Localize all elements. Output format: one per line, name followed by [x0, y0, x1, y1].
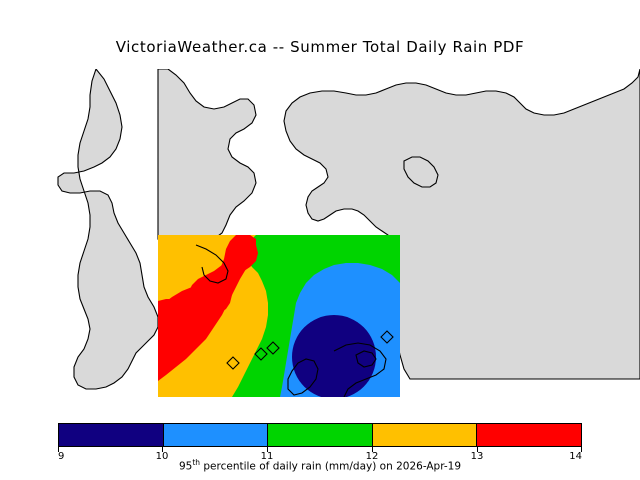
- colorbar-band-9-10: [59, 424, 163, 446]
- colorbar-band-10-11: [163, 424, 268, 446]
- page-title: VictoriaWeather.ca -- Summer Total Daily…: [0, 38, 640, 56]
- colorbar-band-11-12: [267, 424, 372, 446]
- colorbar-caption: 95th percentile of daily rain (mm/day) o…: [0, 458, 640, 473]
- colorbar-caption-superscript: th: [192, 458, 200, 467]
- colorbar: 9 10 11 12 13 14: [58, 423, 582, 447]
- colorbar-band-13-14: [476, 424, 581, 446]
- map-panel[interactable]: [0, 69, 640, 397]
- colorbar-band-12-13: [372, 424, 477, 446]
- contour-band-9-10: [292, 315, 376, 397]
- colorbar-bands: [58, 423, 582, 447]
- contour-field: [158, 235, 400, 397]
- map-canvas[interactable]: [0, 69, 640, 397]
- weather-map-page: VictoriaWeather.ca -- Summer Total Daily…: [0, 0, 640, 480]
- colorbar-caption-prefix: 95: [179, 461, 192, 473]
- colorbar-caption-rest: percentile of daily rain (mm/day) on 202…: [200, 461, 461, 473]
